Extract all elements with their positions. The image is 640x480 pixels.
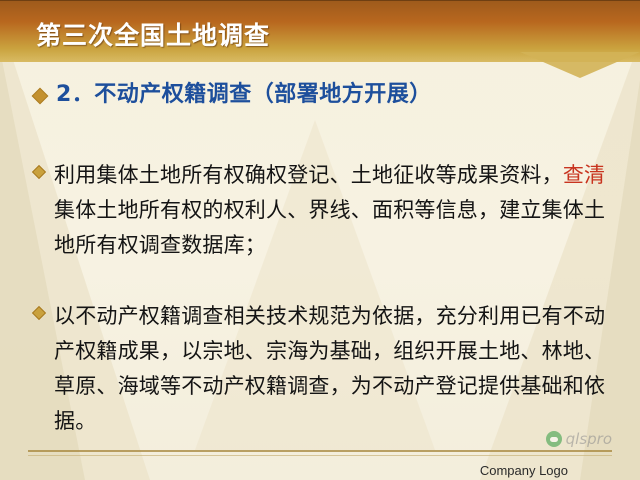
diamond-bullet-icon bbox=[32, 306, 46, 320]
paragraph-1: 利用集体土地所有权确权登记、土地征收等成果资料，查清集体土地所有权的权利人、界线… bbox=[54, 158, 612, 263]
footer-divider-secondary bbox=[28, 455, 612, 456]
paragraph-2: 以不动产权籍调查相关技术规范为依据，充分利用已有不动产权籍成果，以宗地、宗海为基… bbox=[54, 299, 612, 439]
diamond-bullet-icon bbox=[32, 88, 49, 105]
paragraph-bullet-row-2: 以不动产权籍调查相关技术规范为依据，充分利用已有不动产权籍成果，以宗地、宗海为基… bbox=[34, 299, 612, 439]
paragraph-1-highlight: 查清 bbox=[563, 163, 605, 187]
section-heading: 2．不动产权籍调查（部署地方开展） bbox=[56, 80, 432, 110]
diamond-bullet-icon bbox=[32, 165, 46, 179]
paragraph-1-post: 集体土地所有权的权利人、界线、面积等信息，建立集体土地所有权调查数据库； bbox=[54, 198, 605, 257]
watermark-text: qlspro bbox=[566, 430, 612, 448]
heading-bullet-row: 2．不动产权籍调查（部署地方开展） bbox=[34, 80, 612, 110]
slide-title: 第三次全国土地调查 bbox=[36, 16, 270, 52]
slide-content: 2．不动产权籍调查（部署地方开展） 利用集体土地所有权确权登记、土地征收等成果资… bbox=[34, 72, 612, 439]
paragraph-1-pre: 利用集体土地所有权确权登记、土地征收等成果资料， bbox=[54, 163, 563, 187]
slide: 第三次全国土地调查 2．不动产权籍调查（部署地方开展） 利用集体土地所有权确权登… bbox=[0, 0, 640, 480]
footer-divider bbox=[28, 450, 612, 452]
paragraph-bullet-row-1: 利用集体土地所有权确权登记、土地征收等成果资料，查清集体土地所有权的权利人、界线… bbox=[34, 158, 612, 263]
company-logo-placeholder: Company Logo bbox=[480, 463, 568, 478]
wechat-icon bbox=[546, 431, 562, 447]
watermark: qlspro bbox=[546, 430, 612, 448]
